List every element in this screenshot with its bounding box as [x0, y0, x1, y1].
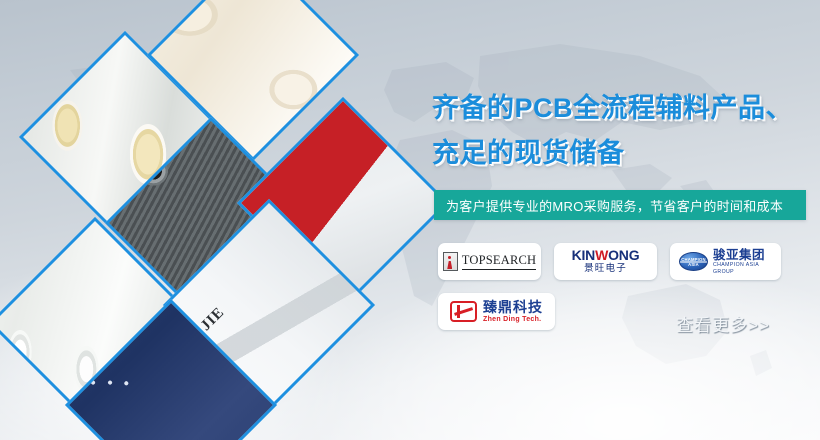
headline-line-1: 齐备的PCB全流程辅料产品、: [432, 86, 820, 131]
product-collage: JIE: [0, 0, 460, 440]
topsearch-wordmark: TOPSEARCH: [462, 253, 537, 270]
kinwong-chinese-name: 景旺电子: [584, 263, 627, 275]
subtitle-text: 为客户提供专业的MRO采购服务，节省客户的时间和成本: [434, 196, 783, 215]
zhending-mark-icon: [450, 301, 477, 322]
logo-topsearch[interactable]: TOPSEARCH: [438, 243, 541, 280]
champion-english-name: CHAMPION ASIA GROUP: [713, 262, 772, 276]
kinwong-text-w: W: [595, 247, 608, 263]
client-logos-row-1: TOPSEARCH KINWONG 景旺电子 CHAMPION ASIA 骏亚集…: [438, 243, 820, 280]
logo-champion-asia[interactable]: CHAMPION ASIA 骏亚集团 CHAMPION ASIA GROUP: [670, 243, 781, 280]
zhending-chinese-name: 臻鼎科技: [483, 300, 543, 315]
zhending-english-name: Zhen Ding Tech.: [483, 315, 543, 324]
promo-banner: JIE 齐备的PCB全流程辅料产品、 充足的现货储备 为客户提供专业的MRO采: [0, 0, 820, 440]
globe-icon: CHAMPION ASIA: [679, 252, 708, 271]
banner-content: 齐备的PCB全流程辅料产品、 充足的现货储备 为客户提供专业的MRO采购服务，节…: [432, 0, 820, 440]
globe-icon-label: CHAMPION ASIA: [680, 257, 707, 267]
logo-zhending[interactable]: 臻鼎科技 Zhen Ding Tech.: [438, 293, 555, 330]
champion-chinese-name: 骏亚集团: [713, 248, 772, 262]
headline: 齐备的PCB全流程辅料产品、 充足的现货储备: [432, 86, 820, 176]
view-more-link[interactable]: 查看更多>>: [676, 311, 770, 336]
headline-line-2: 充足的现货储备: [432, 131, 820, 176]
logo-kinwong[interactable]: KINWONG 景旺电子: [554, 243, 657, 280]
kinwong-wordmark-icon: KINWONG: [572, 248, 640, 263]
kinwong-text-b: ONG: [608, 247, 639, 263]
topsearch-mark-icon: [443, 252, 458, 271]
kinwong-text-a: KIN: [572, 247, 596, 263]
subtitle-bar: 为客户提供专业的MRO采购服务，节省客户的时间和成本: [434, 190, 806, 220]
